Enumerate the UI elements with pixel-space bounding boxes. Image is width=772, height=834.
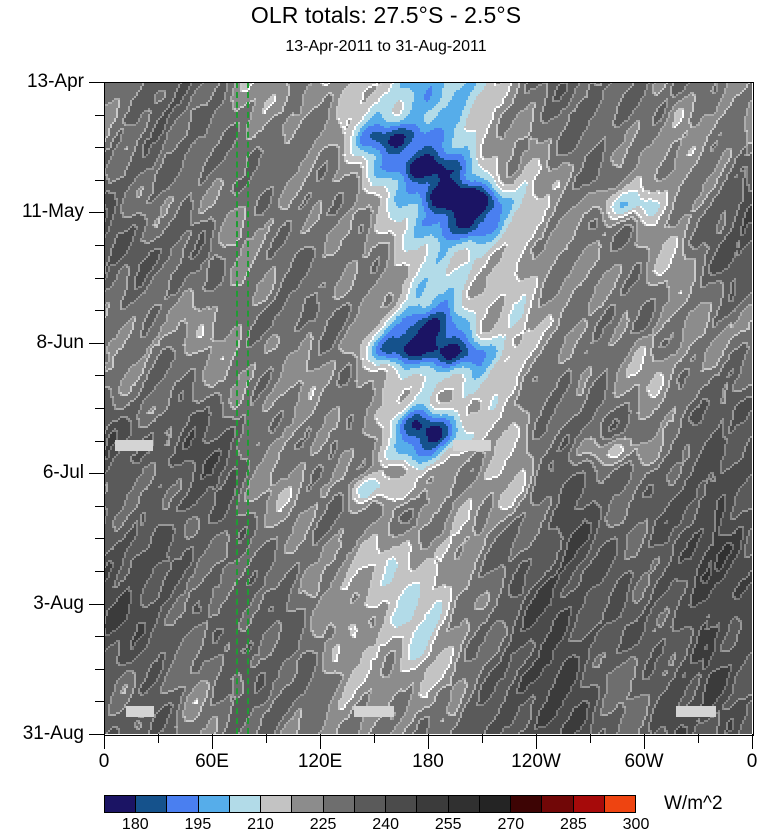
chart-subtitle: 13-Apr-2011 to 31-Aug-2011 (0, 38, 772, 56)
y-axis-tick (89, 343, 104, 344)
colorbar-swatch-2[interactable] (167, 796, 198, 812)
y-axis-minor-tick (95, 669, 104, 670)
y-axis-tick (89, 82, 104, 83)
y-axis-minor-tick (95, 441, 104, 442)
missing-data-bar (453, 440, 491, 451)
colorbar-tick-label: 180 (122, 816, 149, 834)
missing-data-bar (115, 440, 153, 451)
x-axis-label: 60E (195, 751, 229, 773)
colorbar-tick-label: 240 (372, 816, 399, 834)
y-axis-label: 13-Apr (27, 71, 84, 93)
y-axis-minor-tick (95, 245, 104, 246)
y-axis-minor-tick (95, 278, 104, 279)
y-axis-label: 6-Jul (43, 462, 84, 484)
y-axis-label: 8-Jun (36, 332, 84, 354)
y-axis-label: 31-Aug (23, 723, 84, 745)
reference-meridian-line (247, 82, 249, 734)
x-axis-minor-tick (158, 734, 159, 743)
colorbar-tick-label: 285 (560, 816, 587, 834)
colorbar-swatch-10[interactable] (417, 796, 448, 812)
y-axis-minor-tick (95, 538, 104, 539)
missing-data-bar (676, 706, 716, 717)
x-axis-label: 120E (298, 751, 342, 773)
colorbar-swatch-7[interactable] (324, 796, 355, 812)
x-axis-label: 60W (624, 751, 663, 773)
reference-meridian-line (236, 82, 238, 734)
y-axis-tick (89, 212, 104, 213)
y-axis-minor-tick (95, 180, 104, 181)
x-axis-minor-tick (698, 734, 699, 743)
colorbar-swatch-4[interactable] (230, 796, 261, 812)
colorbar-swatch-6[interactable] (292, 796, 323, 812)
y-axis-minor-tick (95, 636, 104, 637)
x-axis-tick (428, 734, 429, 749)
x-axis-label: 120W (511, 751, 561, 773)
x-axis-tick (644, 734, 645, 749)
y-axis-label: 11-May (22, 201, 84, 223)
colorbar-swatch-1[interactable] (136, 796, 167, 812)
y-axis-minor-tick (95, 701, 104, 702)
y-axis-label: 3-Aug (33, 593, 84, 615)
y-axis-minor-tick (95, 571, 104, 572)
y-axis-minor-tick (95, 506, 104, 507)
x-axis-tick (536, 734, 537, 749)
y-axis-minor-tick (95, 375, 104, 376)
plot-area (104, 82, 752, 734)
y-axis-tick (89, 473, 104, 474)
x-axis-tick (320, 734, 321, 749)
missing-data-bar (354, 706, 394, 717)
colorbar-swatch-0[interactable] (105, 796, 136, 812)
missing-data-bar (126, 706, 155, 717)
colorbar-swatch-8[interactable] (355, 796, 386, 812)
colorbar-swatch-5[interactable] (261, 796, 292, 812)
colorbar-tick-label: 225 (310, 816, 337, 834)
colorbar-swatch-13[interactable] (511, 796, 542, 812)
y-axis-tick (89, 604, 104, 605)
colorbar-swatch-9[interactable] (386, 796, 417, 812)
x-axis-tick (104, 734, 105, 749)
colorbar[interactable] (104, 795, 636, 813)
colorbar-tick-label: 210 (247, 816, 274, 834)
colorbar-swatch-16[interactable] (605, 796, 635, 812)
y-axis-minor-tick (95, 115, 104, 116)
y-axis-minor-tick (95, 310, 104, 311)
x-axis-label: 180 (412, 751, 444, 773)
colorbar-units-label: W/m^2 (664, 793, 723, 815)
colorbar-swatch-12[interactable] (480, 796, 511, 812)
colorbar-swatch-15[interactable] (574, 796, 605, 812)
x-axis-minor-tick (374, 734, 375, 743)
olr-heatmap-canvas (104, 82, 752, 734)
colorbar-tick-label: 300 (623, 816, 650, 834)
colorbar-tick-label: 255 (435, 816, 462, 834)
chart-title: OLR totals: 27.5°S - 2.5°S (0, 2, 772, 29)
x-axis-minor-tick (266, 734, 267, 743)
colorbar-tick-label: 270 (497, 816, 524, 834)
colorbar-swatch-11[interactable] (449, 796, 480, 812)
x-axis-tick (212, 734, 213, 749)
x-axis-label: 0 (99, 751, 110, 773)
x-axis-minor-tick (590, 734, 591, 743)
x-axis-minor-tick (482, 734, 483, 743)
colorbar-swatch-14[interactable] (542, 796, 573, 812)
x-axis-tick (752, 734, 753, 749)
colorbar-tick-label: 195 (185, 816, 212, 834)
y-axis-minor-tick (95, 147, 104, 148)
y-axis-minor-tick (95, 408, 104, 409)
hovmoller-figure: OLR totals: 27.5°S - 2.5°S 13-Apr-2011 t… (0, 0, 772, 834)
x-axis-label: 0 (747, 751, 758, 773)
y-axis-tick (89, 734, 104, 735)
colorbar-swatch-3[interactable] (199, 796, 230, 812)
